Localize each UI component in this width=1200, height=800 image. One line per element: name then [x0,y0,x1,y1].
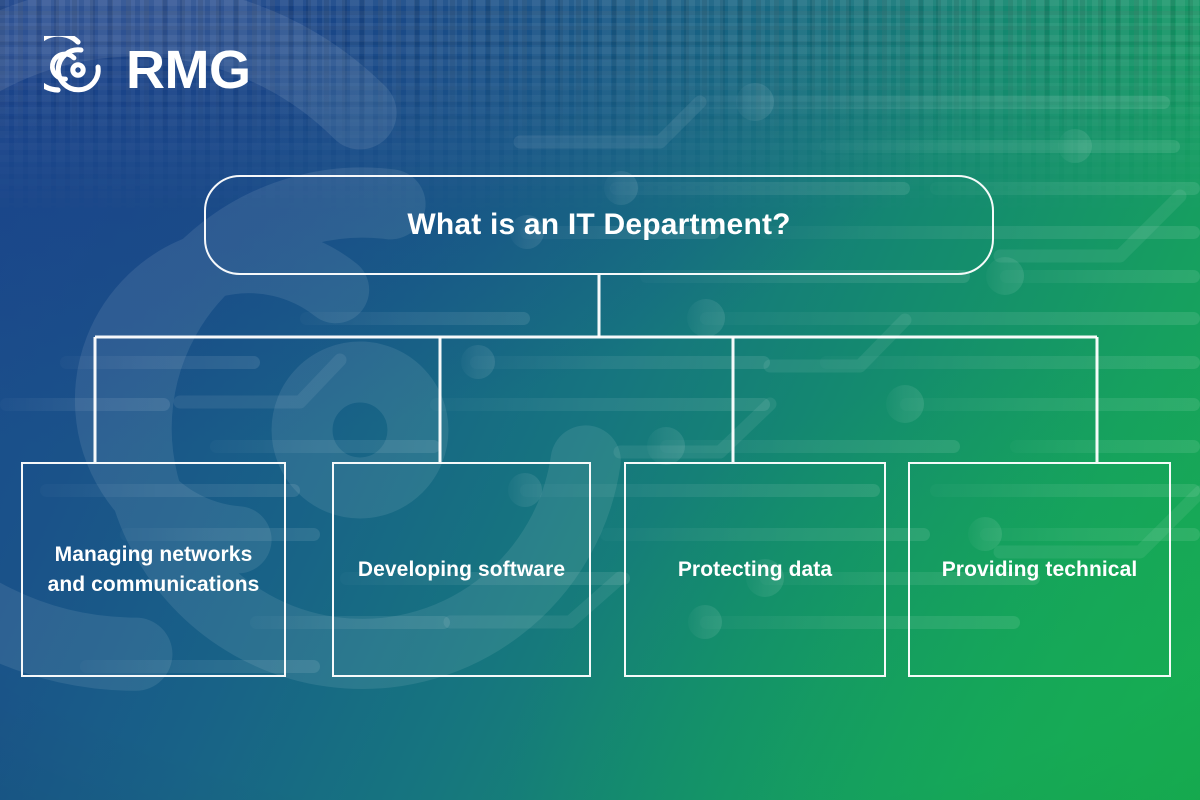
leaf-node-3[interactable]: Protecting data [624,462,886,677]
root-node[interactable]: What is an IT Department? [204,175,994,275]
rmg-spiral-logo-icon [44,36,112,104]
root-node-label: What is an IT Department? [407,208,790,242]
leaf-node-1[interactable]: Managing networks and communications [21,462,286,677]
leaf-node-4-label: Providing technical [942,555,1138,585]
leaf-node-2[interactable]: Developing software [332,462,591,677]
leaf-node-3-label: Protecting data [678,555,832,585]
brand-name: RMG [126,43,250,97]
leaf-node-2-label: Developing software [358,555,565,585]
leaf-node-1-label: Managing networks and communications [39,540,268,600]
brand-logo: RMG [44,36,250,104]
leaf-node-4[interactable]: Providing technical [908,462,1171,677]
infographic-canvas: RMG What is an IT Department? Managing n… [0,0,1200,800]
